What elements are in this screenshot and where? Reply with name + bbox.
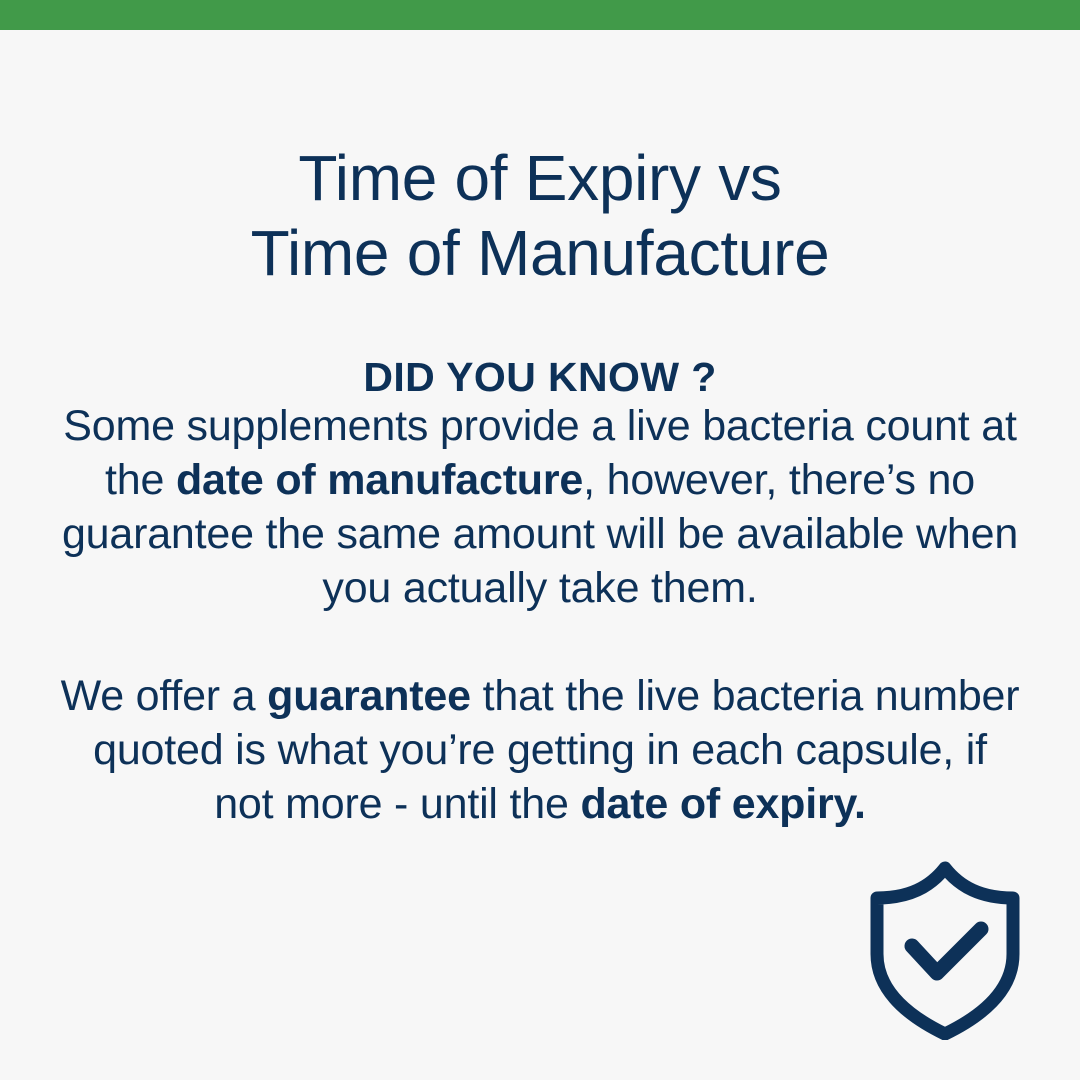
page-title: Time of Expiry vs Time of Manufacture xyxy=(0,141,1080,291)
shield-outline xyxy=(877,868,1013,1034)
paragraph-guarantee-text-1: We offer a xyxy=(61,672,268,720)
paragraph-guarantee: We offer a guarantee that the live bacte… xyxy=(60,669,1020,831)
paragraph-manufacture: Some supplements provide a live bacteria… xyxy=(60,399,1020,615)
paragraph-guarantee-emphasis-expiry: date of expiry. xyxy=(580,780,865,828)
checkmark-stroke xyxy=(912,929,981,973)
shield-check-glyph xyxy=(868,858,1022,1040)
body-copy: Some supplements provide a live bacteria… xyxy=(60,399,1020,831)
infographic-card: Time of Expiry vs Time of Manufacture DI… xyxy=(0,0,1080,1080)
paragraph-guarantee-emphasis-guarantee: guarantee xyxy=(267,672,471,720)
did-you-know-heading: DID YOU KNOW ? xyxy=(0,352,1080,402)
top-accent-bar xyxy=(0,0,1080,30)
paragraph-manufacture-emphasis: date of manufacture xyxy=(176,456,583,504)
shield-check-icon xyxy=(868,858,1022,1040)
